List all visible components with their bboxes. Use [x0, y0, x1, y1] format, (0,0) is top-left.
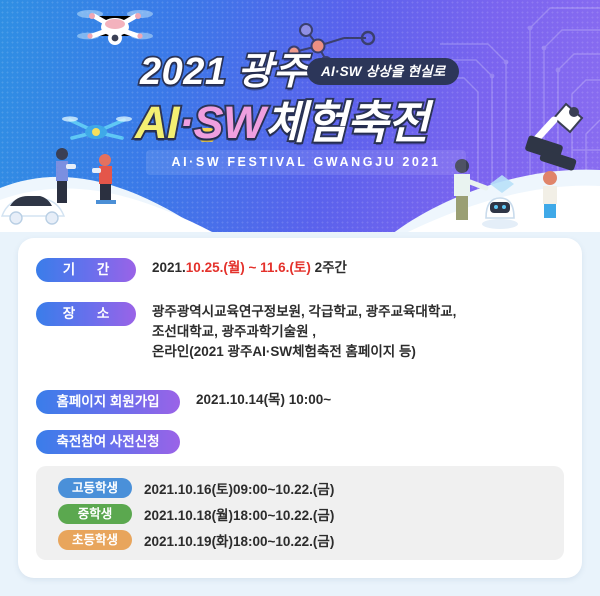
schedule-value-middle: 2021.10.18(월)18:00~10.22.(금)	[144, 504, 334, 524]
place-value: 광주광역시교육연구정보원, 각급학교, 광주교육대학교, 조선대학교, 광주과학…	[152, 302, 456, 362]
schedule-value-elementary: 2021.10.19(화)18:00~10.22.(금)	[144, 530, 334, 550]
schedule-badge-middle: 중학생	[58, 504, 132, 524]
schedule-value-high: 2021.10.16(토)09:00~10.22.(금)	[144, 478, 334, 498]
place-line-2: 조선대학교, 광주과학기술원 ,	[152, 322, 456, 342]
schedule-panel: 고등학생 2021.10.16(토)09:00~10.22.(금) 중학생 20…	[36, 466, 564, 560]
schedule-row-middle: 중학생 2021.10.18(월)18:00~10.22.(금)	[58, 504, 334, 524]
hero-title-rest: 체험축전	[265, 97, 429, 148]
place-label-pill: 장 소	[36, 302, 136, 326]
hero-title-sw: ·SW	[179, 97, 265, 148]
schedule-row-elementary: 초등학생 2021.10.19(화)18:00~10.22.(금)	[58, 530, 334, 550]
schedule-row-high: 고등학생 2021.10.16(토)09:00~10.22.(금)	[58, 478, 334, 498]
place-line-1: 광주광역시교육연구정보원, 각급학교, 광주교육대학교,	[152, 302, 456, 322]
hero-tagline-badge: AI·SW 상상을 현실로	[307, 58, 459, 85]
schedule-badge-high: 고등학생	[58, 478, 132, 498]
poster-root: 2021 광주 AI·SW 상상을 현실로 AI·SW체험축전 AI·SW FE…	[0, 0, 600, 596]
schedule-badge-elementary: 초등학생	[58, 530, 132, 550]
info-row-place: 장 소 광주광역시교육연구정보원, 각급학교, 광주교육대학교, 조선대학교, …	[36, 302, 456, 362]
hero-title-block: 2021 광주 AI·SW 상상을 현실로 AI·SW체험축전 AI·SW FE…	[0, 0, 600, 232]
place-line-3: 온라인(2021 광주AI·SW체험축전 홈페이지 등)	[152, 342, 456, 362]
info-card: 기 간 2021.10.25.(월) ~ 11.6.(토) 2주간 장 소 광주…	[18, 238, 582, 578]
hero-title-line2: AI·SW체험축전	[135, 86, 429, 151]
info-row-preapply: 축전참여 사전신청	[36, 430, 196, 454]
period-suffix: 2주간	[311, 260, 347, 275]
period-value: 2021.10.25.(월) ~ 11.6.(토) 2주간	[152, 258, 347, 277]
period-label-pill: 기 간	[36, 258, 136, 282]
period-prefix: 2021.	[152, 260, 186, 275]
signup-label-pill: 홈페이지 회원가입	[36, 390, 180, 414]
info-row-period: 기 간 2021.10.25.(월) ~ 11.6.(토) 2주간	[36, 258, 347, 282]
period-highlight: 10.25.(월) ~ 11.6.(토)	[186, 260, 311, 275]
hero-title-ai: AI	[135, 97, 179, 148]
hero-banner: 2021 광주 AI·SW 상상을 현실로 AI·SW체험축전 AI·SW FE…	[0, 0, 600, 232]
info-row-signup: 홈페이지 회원가입 2021.10.14(목) 10:00~	[36, 390, 331, 414]
hero-subtitle: AI·SW FESTIVAL GWANGJU 2021	[146, 150, 466, 175]
preapply-label-pill: 축전참여 사전신청	[36, 430, 180, 454]
signup-value: 2021.10.14(목) 10:00~	[196, 390, 331, 409]
